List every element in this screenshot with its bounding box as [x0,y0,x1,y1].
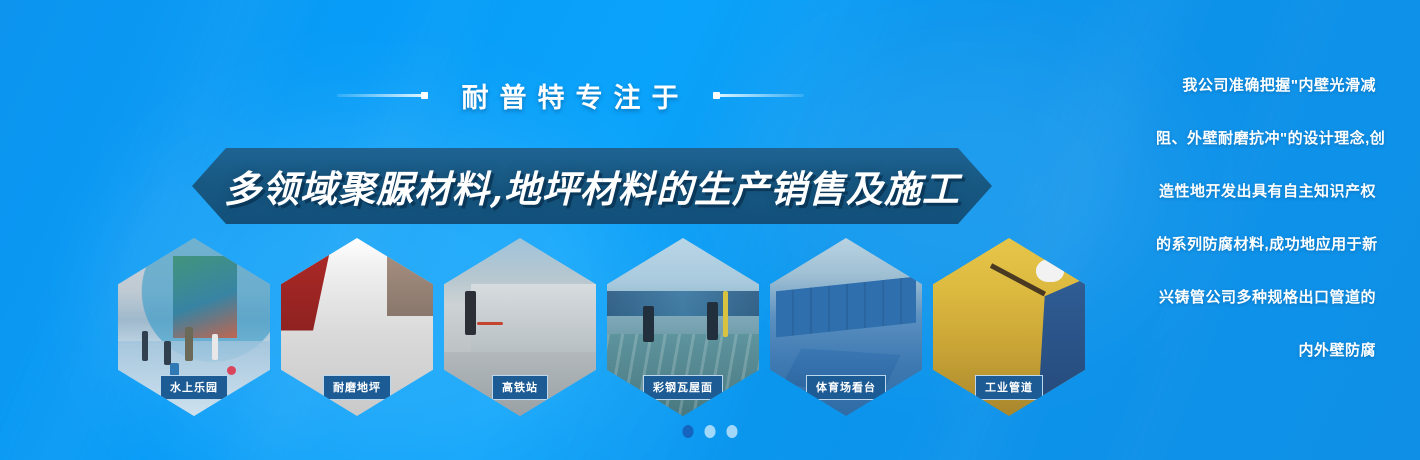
description-line: 我公司准确把握"内壁光滑减 [1156,78,1376,93]
case-label: 工业管道 [975,375,1043,400]
carousel-indicators[interactable] [683,425,738,438]
case-label: 高铁站 [492,375,548,400]
case-thumbnail-row: 水上乐园 耐磨地坪 高铁站 彩钢瓦屋面 体育场看台 [118,238,1118,420]
case-thumbnail-wear-resistant-floor[interactable]: 耐磨地坪 [281,238,433,416]
case-label: 水上乐园 [160,375,228,400]
case-thumbnail-steel-roof[interactable]: 彩钢瓦屋面 [607,238,759,416]
tagline-row: 耐普特专注于 [0,76,1140,115]
case-label: 耐磨地坪 [323,375,391,400]
description-line: 阻、外壁耐磨抗冲"的设计理念,创 [1156,131,1376,146]
decorative-dot-icon [713,92,720,99]
tagline-text: 耐普特专注于 [451,76,690,115]
case-thumbnail-water-park[interactable]: 水上乐园 [118,238,270,416]
case-label: 彩钢瓦屋面 [643,375,723,400]
description-line: 兴铸管公司多种规格出口管道的 [1156,290,1376,305]
carousel-dot-1[interactable] [683,425,694,438]
case-thumbnail-industrial-pipeline[interactable]: 工业管道 [933,238,1085,416]
headline-text: 多领域聚脲材料,地坪材料的生产销售及施工 [224,159,960,213]
description-line: 造性地开发出具有自主知识产权 [1156,184,1376,199]
carousel-dot-3[interactable] [727,425,738,438]
spray-tool-icon [990,263,1046,296]
decorative-line-right [716,94,804,97]
headline-banner: 多领域聚脲材料,地坪材料的生产销售及施工 [192,148,992,224]
description-paragraph: 我公司准确把握"内壁光滑减 阻、外壁耐磨抗冲"的设计理念,创 造性地开发出具有自… [1156,78,1376,358]
carousel-dot-2[interactable] [705,425,716,438]
description-line: 内外壁防腐 [1156,343,1376,358]
case-thumbnail-high-speed-rail-station[interactable]: 高铁站 [444,238,596,416]
decorative-dot-icon [421,92,428,99]
promo-banner: 耐普特专注于 多领域聚脲材料,地坪材料的生产销售及施工 我公司准确把握"内壁光滑… [0,0,1420,460]
decorative-line-left [337,94,425,97]
case-label: 体育场看台 [806,375,886,400]
description-line: 的系列防腐材料,成功地应用于新 [1156,237,1376,252]
case-thumbnail-stadium-grandstand[interactable]: 体育场看台 [770,238,922,416]
